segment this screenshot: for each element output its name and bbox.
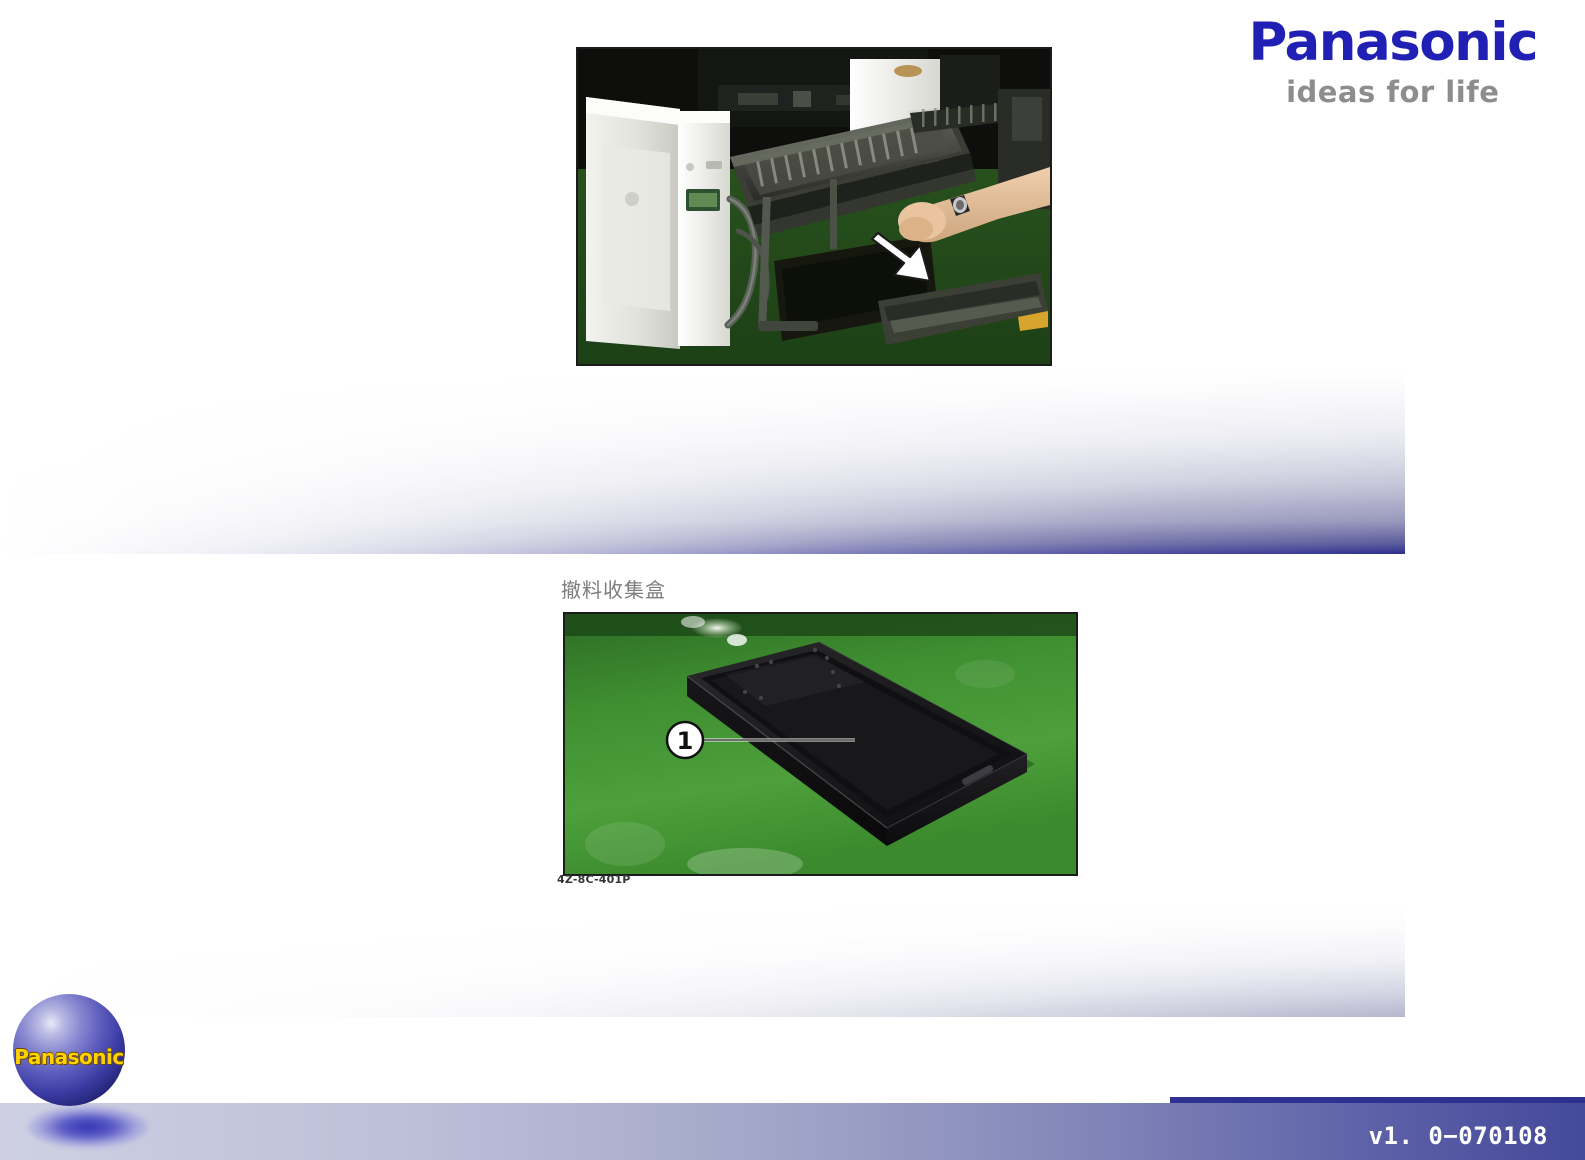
panasonic-sphere-logo: Panasonic [13,994,125,1106]
machine-photo-artwork [578,49,1050,364]
upper-gradient-wedge [0,372,1405,554]
sphere-logo-label: Panasonic [13,1047,125,1067]
figure-part-number: 4Z-8C-401P [557,874,631,885]
panasonic-tagline: ideas for life [1249,78,1537,107]
sphere-logo-shadow [28,1106,148,1148]
version-label: v1. 0−070108 [1369,1124,1548,1148]
slide-canvas: Panasonic ideas for life [0,0,1585,1160]
collection-box-artwork: 1 [565,614,1076,874]
figure-caption-chinese: 撤料收集盒 [561,580,666,600]
panasonic-brand-logo: Panasonic ideas for life [1249,16,1537,107]
lower-gradient-wedge [0,905,1405,1017]
footer-band: v1. 0−070108 [0,1103,1585,1160]
callout-1-number: 1 [677,727,694,755]
smt-machine-tray-removal-photo [576,47,1052,366]
panasonic-wordmark: Panasonic [1249,16,1537,69]
waste-collection-box-photo: 1 [563,612,1078,876]
